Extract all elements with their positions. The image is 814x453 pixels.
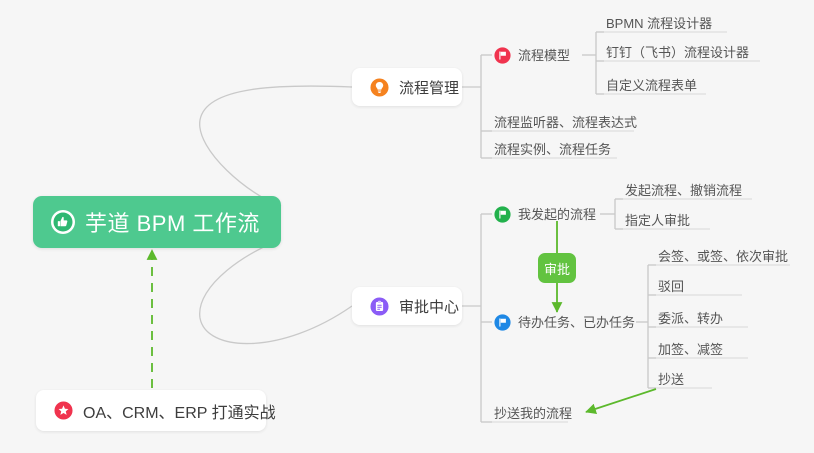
leaf-label-bpmn-sheji: BPMN 流程设计器 <box>606 16 712 31</box>
leaf-label-wo-faqi: 我发起的流程 <box>518 207 596 222</box>
clipboard-icon <box>368 295 391 318</box>
leaf-bpmn-sheji[interactable]: BPMN 流程设计器 <box>606 16 712 35</box>
leaf-label-shili-renwu: 流程实例、流程任务 <box>494 142 611 157</box>
leaf-zidingyi-biaodan[interactable]: 自定义流程表单 <box>606 78 697 97</box>
lightbulb-icon <box>368 76 391 99</box>
wire-root-to-shenpi-zhongxin <box>200 240 352 344</box>
branch-label-liucheng-guanli: 流程管理 <box>399 77 459 98</box>
leaf-label-bohui: 驳回 <box>658 279 684 294</box>
leaf-chaosong[interactable]: 抄送 <box>658 372 684 391</box>
branch-node-liucheng-guanli[interactable]: 流程管理 <box>352 68 462 106</box>
leaf-wo-faqi[interactable]: 我发起的流程 <box>494 206 596 227</box>
leaf-label-jiaqian-jianqian: 加签、减签 <box>658 342 723 357</box>
mindmap-canvas: 芋道 BPM 工作流 流程管理 审批中心 <box>0 0 814 453</box>
star-icon <box>52 399 75 422</box>
leaf-label-huiqian: 会签、或签、依次审批 <box>658 249 788 264</box>
leaf-label-jianting-biaodashi: 流程监听器、流程表达式 <box>494 115 637 130</box>
root-node-label: 芋道 BPM 工作流 <box>85 206 260 238</box>
thumbs-up-icon <box>51 210 75 234</box>
leaf-jianting-biaodashi[interactable]: 流程监听器、流程表达式 <box>494 115 637 134</box>
leaf-daiban-yiban[interactable]: 待办任务、已办任务 <box>494 314 635 335</box>
leaf-liucheng-moxing[interactable]: 流程模型 <box>494 47 570 68</box>
leaf-shili-renwu[interactable]: 流程实例、流程任务 <box>494 142 611 161</box>
leaf-label-zhiding-shenpi: 指定人审批 <box>625 213 690 228</box>
leaf-label-chaosong: 抄送 <box>658 372 684 387</box>
shenpi-pill-label: 审批 <box>544 259 570 278</box>
leaf-dingding-sheji[interactable]: 钉钉（飞书）流程设计器 <box>606 45 749 64</box>
leaf-faqi-chexiao[interactable]: 发起流程、撤销流程 <box>625 183 742 202</box>
leaf-label-weipai-zhuanban: 委派、转办 <box>658 311 723 326</box>
leaf-bohui[interactable]: 驳回 <box>658 279 684 298</box>
leaf-label-chaosong-wode: 抄送我的流程 <box>494 406 572 421</box>
leaf-label-daiban-yiban: 待办任务、已办任务 <box>518 315 635 330</box>
shenpi-pill-node[interactable]: 审批 <box>538 253 576 283</box>
branch-label-shenpi-zhongxin: 审批中心 <box>399 296 459 317</box>
branch-node-shenpi-zhongxin[interactable]: 审批中心 <box>352 287 462 325</box>
leaf-label-dingding-sheji: 钉钉（飞书）流程设计器 <box>606 45 749 60</box>
root-node[interactable]: 芋道 BPM 工作流 <box>33 196 281 248</box>
bottom-node-label: OA、CRM、ERP 打通实战 <box>83 399 276 423</box>
leaf-huiqian[interactable]: 会签、或签、依次审批 <box>658 249 788 268</box>
leaf-label-zidingyi-biaodan: 自定义流程表单 <box>606 78 697 93</box>
bottom-node-oa-crm-erp[interactable]: OA、CRM、ERP 打通实战 <box>36 390 266 431</box>
flag-icon <box>494 314 511 331</box>
flag-icon <box>494 206 511 223</box>
leaf-chaosong-wode[interactable]: 抄送我的流程 <box>494 406 572 425</box>
leaf-weipai-zhuanban[interactable]: 委派、转办 <box>658 311 723 330</box>
wire-root-to-liucheng-guanli <box>200 86 352 206</box>
green-arrow-chaosong-to-chaosong-wode <box>586 389 656 412</box>
leaf-label-faqi-chexiao: 发起流程、撤销流程 <box>625 183 742 198</box>
flag-icon <box>494 47 511 64</box>
leaf-label-liucheng-moxing: 流程模型 <box>518 48 570 63</box>
leaf-zhiding-shenpi[interactable]: 指定人审批 <box>625 213 690 232</box>
leaf-jiaqian-jianqian[interactable]: 加签、减签 <box>658 342 723 361</box>
